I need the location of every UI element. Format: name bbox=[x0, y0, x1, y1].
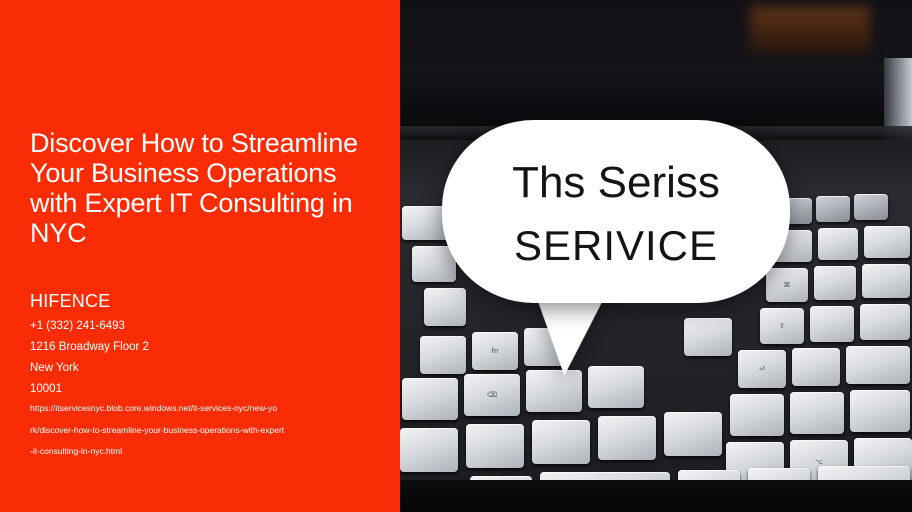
key-glyph: fn bbox=[472, 347, 518, 355]
key bbox=[532, 420, 590, 464]
contact-block: +1 (332) 241-6493 1216 Broadway Floor 2 … bbox=[30, 316, 380, 400]
key: ⏎ bbox=[738, 350, 786, 388]
key bbox=[598, 416, 656, 460]
key bbox=[818, 228, 858, 260]
key bbox=[810, 306, 854, 342]
key bbox=[664, 412, 722, 456]
left-red-panel: Discover How to Streamline Your Business… bbox=[0, 0, 400, 512]
key bbox=[424, 288, 466, 326]
key bbox=[588, 366, 644, 408]
contact-city: New York bbox=[30, 358, 380, 379]
speech-bubble-line-1: Ths Seriss bbox=[442, 158, 790, 208]
key bbox=[402, 378, 458, 420]
key: fn bbox=[472, 332, 518, 370]
key: ⇧ bbox=[760, 308, 804, 344]
speech-bubble-line-2: SERIVICE bbox=[442, 222, 790, 270]
contact-phone: +1 (332) 241-6493 bbox=[30, 316, 380, 337]
laptop-front-edge bbox=[400, 480, 912, 512]
key-glyph: ⌫ bbox=[464, 391, 520, 399]
keyboard-photo: ⌘ ⇧ fn ⏎ ⌫ bbox=[400, 0, 912, 512]
key: ⌘ bbox=[766, 268, 808, 302]
key bbox=[730, 394, 784, 436]
key: ⌫ bbox=[464, 374, 520, 416]
key bbox=[860, 304, 910, 340]
key-glyph: ⌥ bbox=[790, 458, 848, 466]
key bbox=[400, 428, 458, 472]
contact-zip: 10001 bbox=[30, 379, 380, 400]
source-url-line-2: rk/discover-how-to-streamline-your-busin… bbox=[30, 420, 370, 442]
contact-address: 1216 Broadway Floor 2 bbox=[30, 337, 380, 358]
key bbox=[816, 196, 850, 222]
speech-bubble bbox=[442, 120, 790, 303]
key bbox=[420, 336, 466, 374]
key bbox=[684, 318, 732, 356]
lid-warm-glow bbox=[750, 6, 870, 52]
key bbox=[792, 348, 840, 386]
key bbox=[862, 264, 910, 298]
source-url-line-3: -it-consulting-in-nyc.html bbox=[30, 441, 370, 463]
brand-name: HIFENCE bbox=[30, 291, 110, 312]
key-glyph: ⌘ bbox=[766, 281, 808, 289]
key bbox=[814, 266, 856, 300]
key bbox=[790, 392, 844, 434]
poster-canvas: Discover How to Streamline Your Business… bbox=[0, 0, 912, 512]
source-url: https://itservicesnyc.blob.core.windows.… bbox=[30, 398, 370, 463]
key bbox=[864, 226, 910, 258]
key bbox=[466, 424, 524, 468]
key-glyph: ⏎ bbox=[738, 365, 786, 373]
key bbox=[850, 390, 910, 432]
key-glyph: ⇧ bbox=[760, 322, 804, 330]
source-url-line-1: https://itservicesnyc.blob.core.windows.… bbox=[30, 398, 370, 420]
page-title: Discover How to Streamline Your Business… bbox=[30, 128, 375, 248]
key bbox=[846, 346, 910, 384]
key bbox=[854, 194, 888, 220]
